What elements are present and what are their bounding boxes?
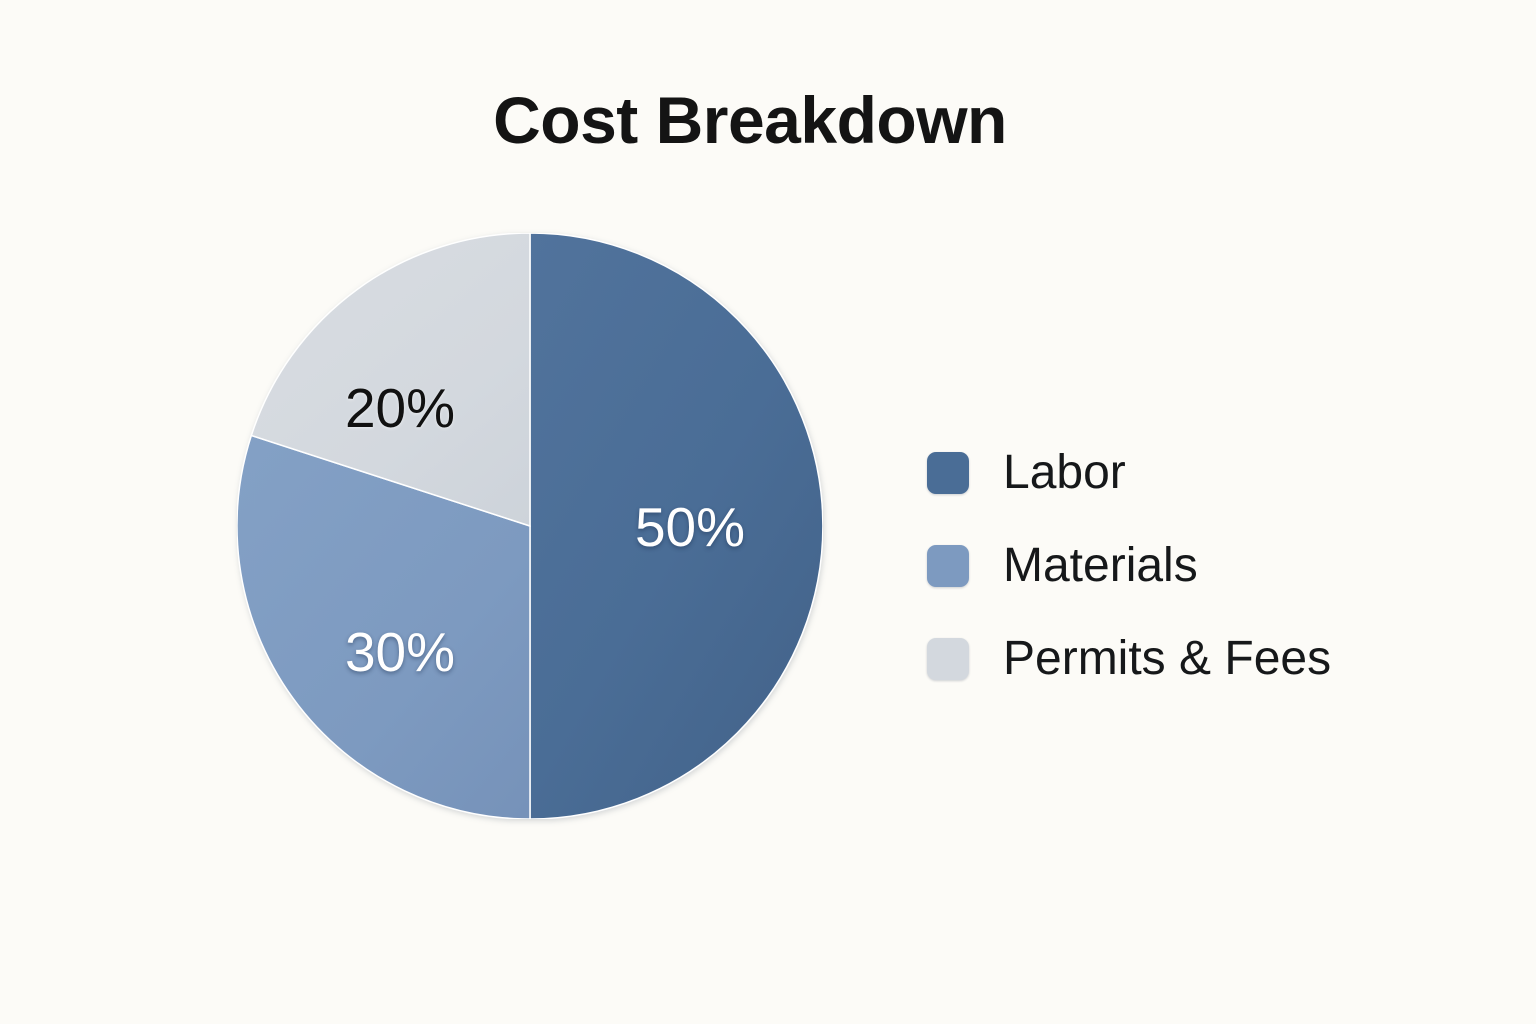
legend-label-materials: Materials — [1003, 542, 1198, 590]
chart-canvas: Cost Breakdown — [0, 0, 1536, 1024]
legend-label-permits-and-fees: Permits & Fees — [1003, 635, 1331, 683]
legend-item-permits-and-fees[interactable]: Permits & Fees — [927, 638, 1331, 680]
legend-label-labor: Labor — [1003, 449, 1126, 497]
pie-chart — [237, 233, 823, 819]
legend-item-materials[interactable]: Materials — [927, 545, 1331, 587]
legend-swatch-icon-labor — [927, 452, 969, 494]
pie-slice-labor[interactable] — [530, 233, 823, 819]
page-title: Cost Breakdown — [0, 82, 1500, 158]
legend-item-labor[interactable]: Labor — [927, 452, 1331, 494]
chart-legend: Labor Materials Permits & Fees — [927, 452, 1331, 680]
legend-swatch-icon-permits-and-fees — [927, 638, 969, 680]
pie-chart-svg — [237, 233, 823, 819]
legend-swatch-icon-materials — [927, 545, 969, 587]
